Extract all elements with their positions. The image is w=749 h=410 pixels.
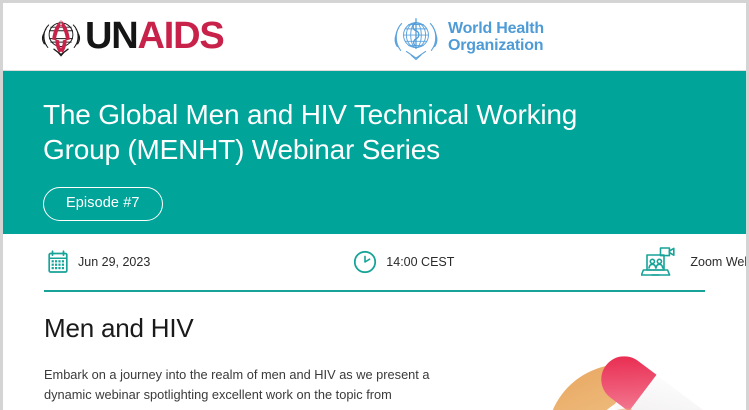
who-wordmark-line1: World Health	[448, 20, 544, 38]
event-platform: Zoom Webinar	[641, 246, 749, 278]
event-date: Jun 29, 2023	[47, 250, 150, 274]
section-paragraph: Embark on a journey into the realm of me…	[44, 365, 474, 405]
section-title: Men and HIV	[44, 312, 706, 344]
unaids-wordmark-aids: AIDS	[138, 15, 224, 57]
who-globe-emblem-icon	[392, 13, 440, 61]
hand-holding-pill-illustration-icon	[540, 333, 746, 410]
logo-header: UNAIDS	[3, 3, 746, 71]
who-wordmark-line2: Organization	[448, 37, 544, 55]
content-section: Men and HIV Embark on a journey into the…	[3, 292, 746, 405]
calendar-icon	[47, 250, 69, 274]
unaids-logo: UNAIDS	[39, 14, 224, 58]
episode-badge: Episode #7	[43, 187, 163, 221]
webinar-icon	[641, 246, 675, 278]
clock-icon	[353, 250, 377, 274]
event-time-label: 14:00 CEST	[386, 255, 454, 269]
event-meta-row: Jun 29, 2023 14:00 CEST	[3, 234, 746, 290]
page-title: The Global Men and HIV Technical Working…	[43, 97, 653, 167]
unaids-ribbon-emblem-icon	[39, 14, 83, 58]
event-time: 14:00 CEST	[353, 250, 454, 274]
who-logo: World Health Organization	[392, 13, 544, 61]
who-wordmark: World Health Organization	[448, 20, 544, 55]
title-banner: The Global Men and HIV Technical Working…	[3, 71, 746, 234]
unaids-wordmark: UNAIDS	[85, 14, 224, 58]
event-platform-label: Zoom Webinar	[690, 255, 749, 269]
event-date-label: Jun 29, 2023	[78, 255, 150, 269]
unaids-wordmark-un: UN	[85, 15, 138, 57]
webinar-flyer-page: UNAIDS	[0, 0, 749, 410]
